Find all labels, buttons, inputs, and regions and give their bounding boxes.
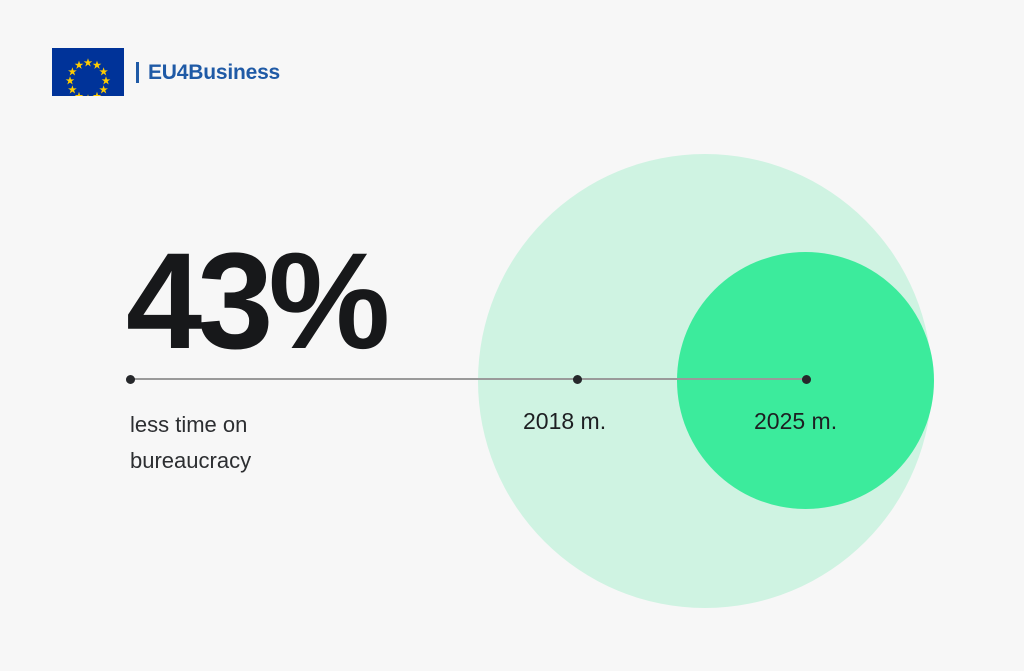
european-union-flag-icon <box>52 48 124 96</box>
statistic-caption-line2: bureaucracy <box>130 443 251 479</box>
axis-label-2018: 2018 m. <box>523 408 606 435</box>
axis-dot-2018 <box>573 375 582 384</box>
infographic-canvas: EU4Business 43% less time on bureaucracy… <box>0 0 1024 671</box>
statistic-caption-line1: less time on <box>130 407 251 443</box>
statistic-value: 43% <box>126 233 385 370</box>
axis-dot-start <box>126 375 135 384</box>
brand-wordmark: EU4Business <box>136 62 280 83</box>
statistic-caption: less time on bureaucracy <box>130 407 251 480</box>
axis-dot-2025 <box>802 375 811 384</box>
timeline-axis <box>130 378 807 380</box>
brand-logo[interactable]: EU4Business <box>52 48 280 96</box>
axis-label-2025: 2025 m. <box>754 408 837 435</box>
